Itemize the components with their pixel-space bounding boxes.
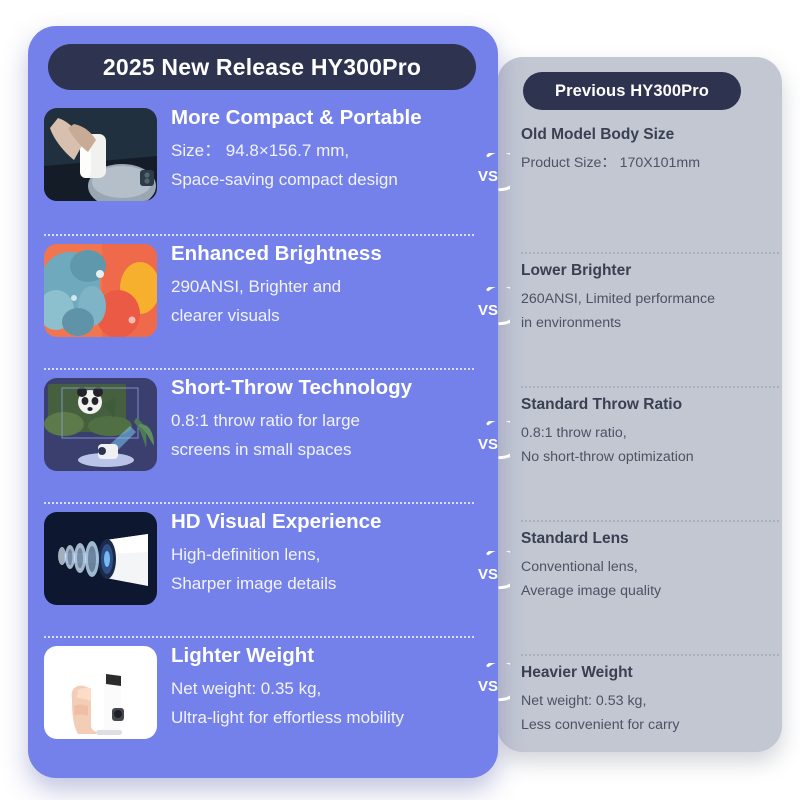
new-row-title: HD Visual Experience [171,510,381,535]
svg-text:VS: VS [478,302,498,319]
new-release-badge-label: 2025 New Release HY300Pro [103,54,421,81]
svg-text:VS: VS [478,168,498,185]
new-row-lighter-weight: Lighter Weight Net weight: 0.35 kg, Ultr… [44,636,474,770]
previous-model-badge-label: Previous HY300Pro [555,82,709,101]
comparison-infographic: Previous HY300Pro Old Model Body Size Pr… [0,0,800,800]
previous-row-line-1: 260ANSI, Limited performance [521,287,779,311]
new-row-text: More Compact & Portable Size： 94.8×156.7… [171,106,422,194]
new-row-line-1: 290ANSI, Brighter and [171,272,382,301]
new-row-line-1: Net weight: 0.35 kg, [171,674,404,703]
previous-row-line-1: Product Size： 170X101mm [521,151,779,175]
previous-row-line-1: Net weight: 0.53 kg, [521,689,779,713]
previous-row-lens: Standard Lens Conventional lens, Average… [521,520,779,654]
previous-row-line-2: in environments [521,311,779,335]
projector-in-bag-photo [44,108,157,201]
vs-badge-1: VS [466,153,510,197]
panda-wall-projection-photo [44,378,157,471]
previous-model-rows: Old Model Body Size Product Size： 170X10… [521,118,779,788]
new-release-badge: 2025 New Release HY300Pro [48,44,476,90]
new-row-line-1: Size： 94.8×156.7 mm, [171,136,422,165]
new-row-line-2: screens in small spaces [171,435,412,464]
hand-holding-projector-photo [44,646,157,739]
new-row-line-2: Sharper image details [171,569,381,598]
previous-row-weight: Heavier Weight Net weight: 0.53 kg, Less… [521,654,779,788]
new-row-hd-visual: HD Visual Experience High-definition len… [44,502,474,636]
previous-row-brightness: Lower Brighter 260ANSI, Limited performa… [521,252,779,386]
previous-row-line-1: 0.8:1 throw ratio, [521,421,779,445]
colorful-flowers-projection-photo [44,244,157,337]
new-row-text: HD Visual Experience High-definition len… [171,510,381,598]
lens-assembly-photo [44,512,157,605]
new-row-title: More Compact & Portable [171,106,422,131]
vs-badge-3: VS [466,421,510,465]
new-row-line-1: High-definition lens, [171,540,381,569]
new-row-text: Enhanced Brightness 290ANSI, Brighter an… [171,242,382,330]
previous-row-title: Standard Throw Ratio [521,396,779,415]
previous-row-line-2: Less convenient for carry [521,713,779,737]
new-row-line-2: clearer visuals [171,301,382,330]
new-row-line-1: 0.8:1 throw ratio for large [171,406,412,435]
previous-row-line-2: No short-throw optimization [521,445,779,469]
previous-row-body-size: Old Model Body Size Product Size： 170X10… [521,118,779,252]
svg-text:VS: VS [478,678,498,695]
vs-badge-4: VS [466,551,510,595]
svg-text:VS: VS [478,566,498,583]
previous-model-badge: Previous HY300Pro [523,72,741,110]
vs-badge-5: VS [466,663,510,707]
new-row-line-2: Space-saving compact design [171,165,422,194]
new-row-text: Lighter Weight Net weight: 0.35 kg, Ultr… [171,644,404,732]
previous-row-title: Lower Brighter [521,262,779,281]
new-row-text: Short-Throw Technology 0.8:1 throw ratio… [171,376,412,464]
new-row-compact-portable: More Compact & Portable Size： 94.8×156.7… [44,100,474,234]
previous-row-title: Heavier Weight [521,664,779,683]
new-row-title: Enhanced Brightness [171,242,382,267]
previous-row-throw-ratio: Standard Throw Ratio 0.8:1 throw ratio, … [521,386,779,520]
vs-badge-2: VS [466,287,510,331]
new-release-rows: More Compact & Portable Size： 94.8×156.7… [44,100,474,770]
svg-text:VS: VS [478,436,498,453]
new-row-enhanced-brightness: Enhanced Brightness 290ANSI, Brighter an… [44,234,474,368]
new-row-title: Short-Throw Technology [171,376,412,401]
previous-row-title: Old Model Body Size [521,126,779,145]
new-row-short-throw: Short-Throw Technology 0.8:1 throw ratio… [44,368,474,502]
previous-row-title: Standard Lens [521,530,779,549]
new-row-line-2: Ultra-light for effortless mobility [171,703,404,732]
new-row-title: Lighter Weight [171,644,404,669]
previous-row-line-2: Average image quality [521,579,779,603]
previous-row-line-1: Conventional lens, [521,555,779,579]
